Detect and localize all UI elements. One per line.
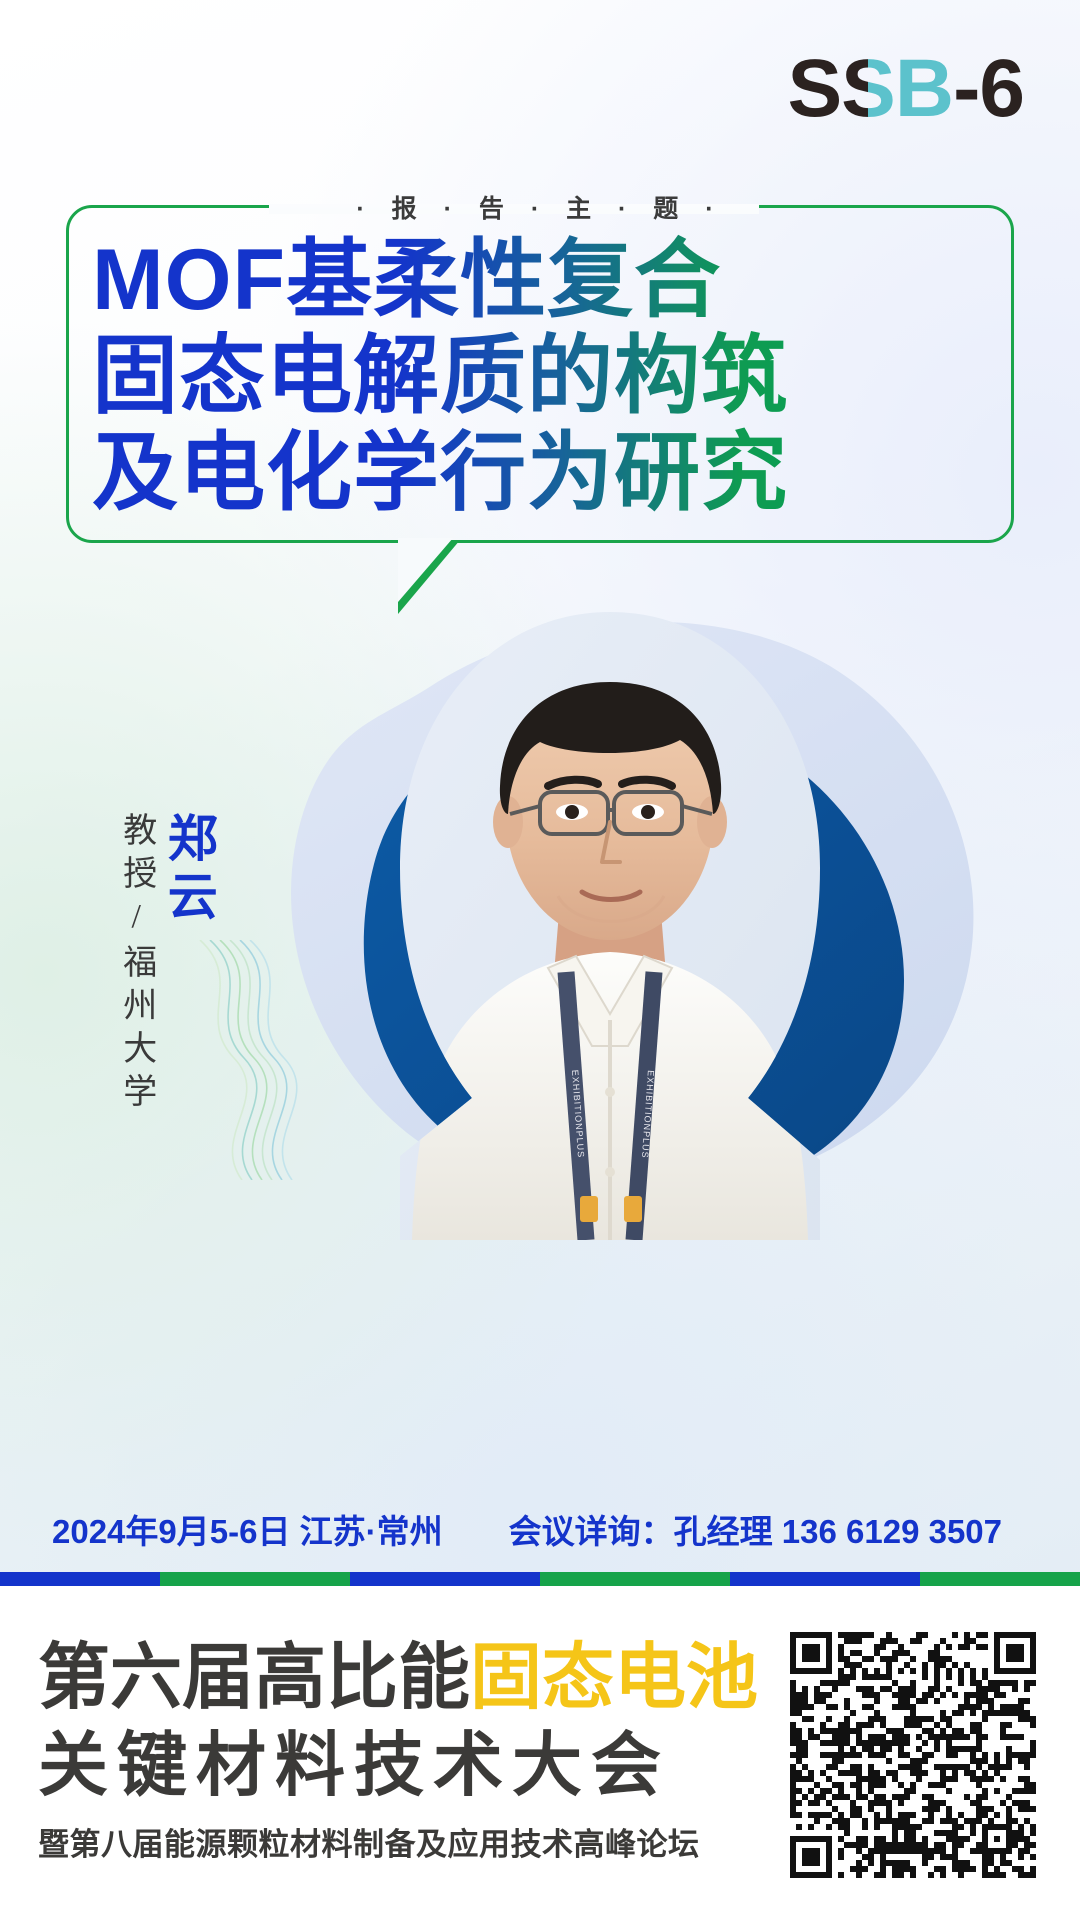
poster-stage: EXHIBITIONPLUS EXHIBITIONPLUS [0,0,1080,1572]
stripe-segment-3 [540,1572,730,1586]
title-line-1: MOF基柔性复合 [92,232,992,328]
event-date-location: 2024年9月5-6日 江苏·常州 [52,1505,443,1553]
banner-line-3: 暨第八届能源颗粒材料制备及应用技术高峰论坛 [38,1819,768,1864]
conference-speaker-poster: EXHIBITIONPLUS EXHIBITIONPLUS [0,0,1080,1920]
title-line-2: 固态电解质的构筑 [92,328,992,424]
logo-letter-s1: S [787,43,841,134]
qr-code[interactable] [790,1632,1036,1878]
wave-decoration [196,940,306,1180]
banner-line-1-highlight: 固态电池 [470,1638,758,1718]
title-line-3: 及电化学行为研究 [92,425,992,521]
color-stripe [0,1572,1080,1586]
banner-line-1: 第六届高比能固态电池 [38,1642,768,1714]
presentation-title: MOF基柔性复合 固态电解质的构筑 及电化学行为研究 [92,232,992,521]
bubble-tail-fill [398,538,453,602]
stripe-segment-4 [730,1572,920,1586]
logo-letter-s2: S [841,43,895,134]
event-info-bar: 2024年9月5-6日 江苏·常州 会议详询：孔经理 136 6129 3507 [0,1498,1080,1560]
stripe-segment-1 [160,1572,350,1586]
banner-text-block: 第六届高比能固态电池 关键材料技术大会 暨第八届能源颗粒材料制备及应用技术高峰论… [38,1642,768,1863]
banner-line-1-prefix: 第六届高比能 [38,1638,470,1718]
stripe-segment-2 [350,1572,540,1586]
event-logo: SSB-6 [787,48,1024,130]
logo-suffix-6: -6 [953,43,1024,134]
speaker-portrait: EXHIBITIONPLUS EXHIBITIONPLUS [380,600,840,1240]
speaker-affiliation: 教授/福州大学 [118,812,154,1116]
banner-line-2: 关键材料技术大会 [38,1726,768,1804]
stripe-segment-0 [0,1572,160,1586]
logo-letter-b: B [895,43,953,134]
speaker-name: 郑云 [164,812,214,928]
portrait-image: EXHIBITIONPLUS EXHIBITIONPLUS [380,600,840,1240]
qr-code-image[interactable] [790,1632,1036,1878]
event-contact: 会议详询：孔经理 136 6129 3507 [509,1505,1002,1553]
wave-lines [196,940,306,1180]
topic-label: · 报 · 告 · 主 · 题 · [69,189,1011,225]
stripe-segment-5 [920,1572,1080,1586]
